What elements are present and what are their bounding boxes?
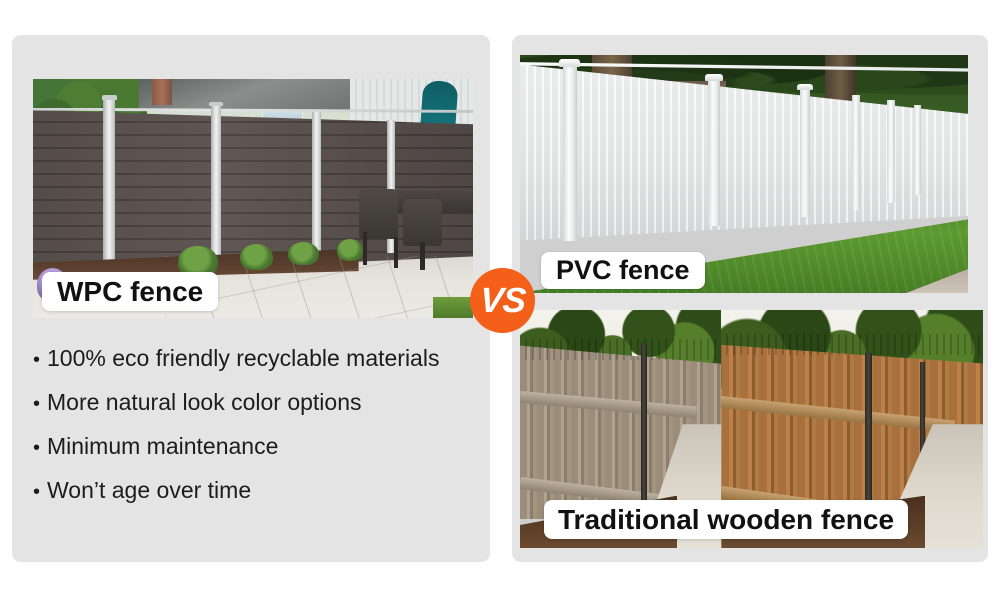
- fence-post: [563, 65, 577, 241]
- fence-post: [312, 112, 321, 265]
- pvc-fence-caption: PVC fence: [541, 252, 705, 289]
- fence-post-cap: [102, 95, 117, 100]
- bullet-icon: •: [33, 482, 47, 502]
- fence-post-cap: [797, 84, 813, 90]
- chair-leg: [420, 242, 424, 271]
- feature-item: • Won’t age over time: [33, 479, 473, 502]
- comparison-infographic: WPC fence • 100% eco friendly recyclable…: [0, 0, 1000, 600]
- shrub: [337, 239, 363, 261]
- feature-item: • Minimum maintenance: [33, 435, 473, 458]
- vs-label: VS: [478, 283, 526, 318]
- chair-leg: [363, 232, 367, 265]
- feature-text: More natural look color options: [47, 391, 473, 414]
- fence-post: [887, 100, 895, 202]
- feature-text: Minimum maintenance: [47, 435, 473, 458]
- fence-post-cap: [209, 102, 223, 107]
- patio-chair: [403, 199, 443, 247]
- bullet-icon: •: [33, 394, 47, 414]
- wpc-fence-caption: WPC fence: [42, 272, 218, 311]
- feature-item: • 100% eco friendly recyclable materials: [33, 347, 473, 370]
- fence-post: [211, 105, 221, 272]
- picket-tops: [520, 339, 721, 360]
- shrub: [288, 242, 319, 266]
- fence-post: [103, 98, 114, 275]
- house-roof: [139, 79, 368, 110]
- fence-post: [800, 88, 810, 217]
- fence-post-cap: [705, 74, 723, 81]
- feature-item: • More natural look color options: [33, 391, 473, 414]
- shrub: [240, 244, 273, 270]
- feature-text: 100% eco friendly recyclable materials: [47, 347, 473, 370]
- fence-post: [914, 105, 921, 195]
- feature-text: Won’t age over time: [47, 479, 473, 502]
- lawn-corner: [433, 297, 473, 319]
- fence-post: [865, 353, 871, 505]
- fence-post: [708, 79, 720, 227]
- fence-post: [852, 95, 861, 209]
- wpc-feature-list: • 100% eco friendly recyclable materials…: [33, 347, 473, 523]
- wooden-fence-caption: Traditional wooden fence: [544, 500, 908, 539]
- vs-badge-icon: VS: [470, 268, 535, 333]
- fence-post-cap: [559, 59, 579, 67]
- picket-tops: [721, 334, 983, 355]
- bullet-icon: •: [33, 350, 47, 370]
- chimney: [152, 79, 172, 105]
- fence-post: [641, 343, 647, 510]
- chair-leg: [394, 237, 398, 268]
- bullet-icon: •: [33, 438, 47, 458]
